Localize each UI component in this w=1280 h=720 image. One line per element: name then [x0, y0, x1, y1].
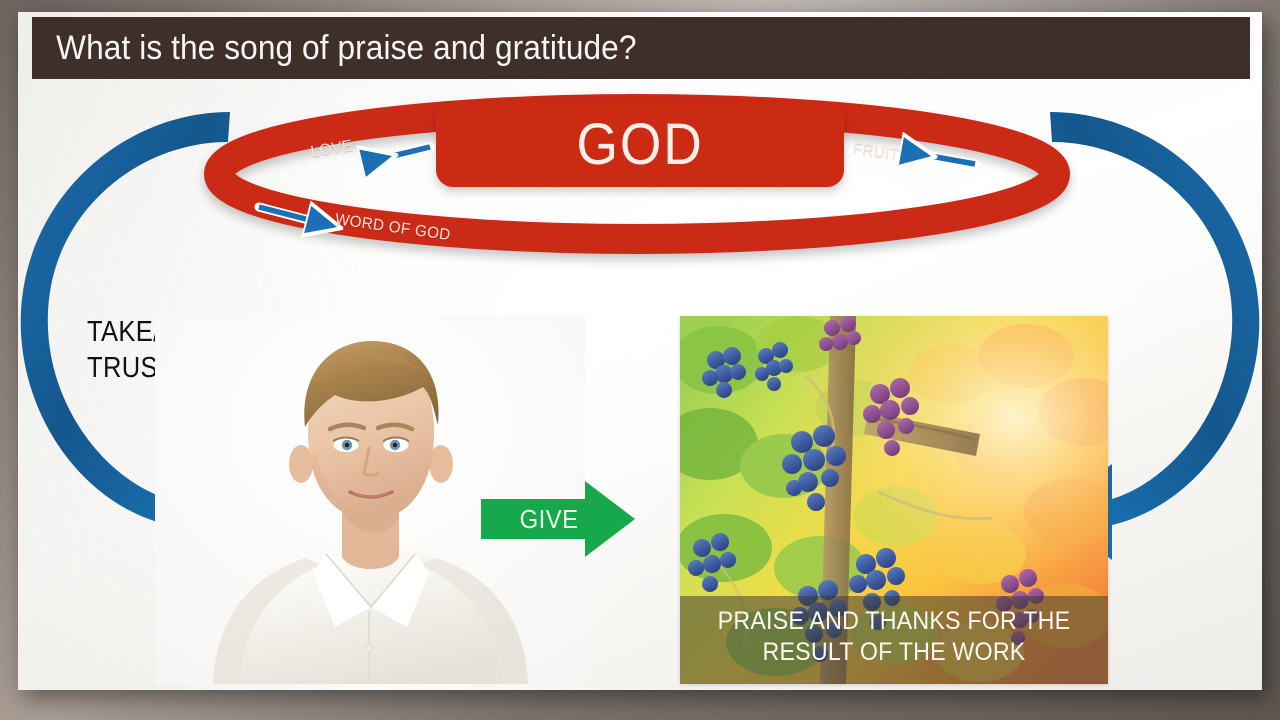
give-arrow: GIVE — [481, 478, 637, 560]
love-arrow-icon — [377, 147, 430, 160]
page-title: What is the song of praise and gratitude… — [32, 29, 637, 68]
fruit-arrow-icon — [916, 153, 975, 164]
result-photo-caption: PRAISE AND THANKS FOR THE RESULT OF THE … — [680, 596, 1108, 684]
give-label: GIVE — [520, 504, 579, 535]
word-of-god-arrow-icon — [259, 207, 328, 225]
diagram-area: GOD — [18, 12, 1262, 690]
slide-canvas: GOD — [18, 12, 1262, 690]
desktop-backdrop: GOD — [0, 0, 1280, 720]
slide-title-bar: What is the song of praise and gratitude… — [32, 17, 1250, 79]
caption-line-1: PRAISE AND THANKS FOR THE — [695, 606, 1093, 637]
result-photo: PRAISE AND THANKS FOR THE RESULT OF THE … — [680, 316, 1108, 684]
caption-line-2: RESULT OF THE WORK — [695, 637, 1093, 668]
